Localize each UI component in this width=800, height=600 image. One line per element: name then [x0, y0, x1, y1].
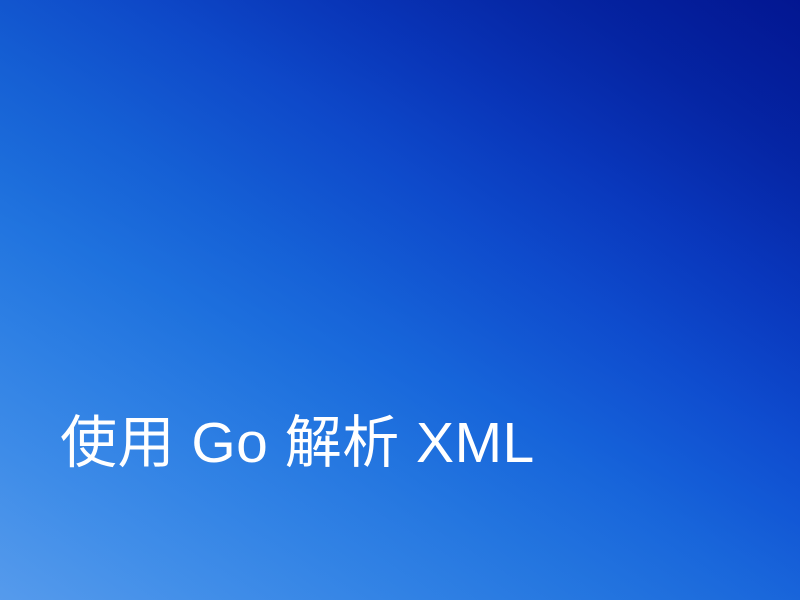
headline-line-1: 使用 Go 解析 XML [60, 402, 760, 484]
title-card: 使用 Go 解析 XML 文件有一个奇怪的行为 [0, 0, 800, 600]
page-title: 使用 Go 解析 XML 文件有一个奇怪的行为 [60, 238, 760, 600]
